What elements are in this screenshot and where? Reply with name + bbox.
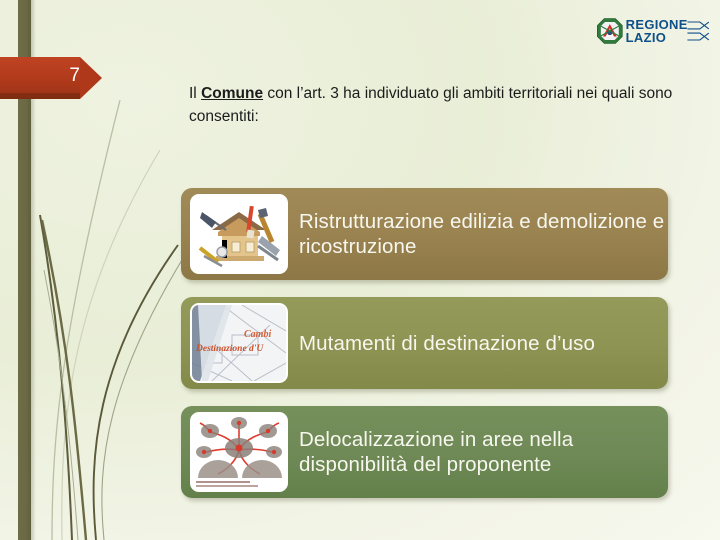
red-network-cluster-diagram-thumbnail bbox=[190, 412, 288, 492]
slide-number-badge: 7 bbox=[0, 57, 106, 99]
blueprint-change-of-use-image: Cambi Destinazione d'U bbox=[192, 305, 286, 381]
regione-lazio-emblem-icon bbox=[596, 11, 624, 51]
content-box-ristrutturazione[interactable]: Ristrutturazione edilizia e demolizione … bbox=[181, 188, 668, 280]
house-renovation-tools-image bbox=[192, 196, 286, 272]
regione-lazio-logo: REGIONE LAZIO bbox=[596, 8, 712, 54]
slide-number-badge-arrow-tip bbox=[80, 57, 102, 99]
content-box-label: Mutamenti di destinazione d’uso bbox=[299, 331, 595, 356]
thumb-caption-destinazione: Destinazione d'U bbox=[195, 344, 264, 354]
logo-line-lazio: LAZIO bbox=[626, 31, 688, 44]
red-network-cluster-image bbox=[192, 414, 286, 490]
content-box-list: Ristrutturazione edilizia e demolizione … bbox=[181, 188, 668, 515]
title-bold-comune: Comune bbox=[201, 85, 263, 102]
slide-number-text: 7 bbox=[69, 57, 80, 95]
content-box-delocalizzazione[interactable]: Delocalizzazione in aree nella disponibi… bbox=[181, 406, 668, 498]
slide: 7 REGIONE LAZIO Il Comune con l’art. 3 h… bbox=[0, 0, 720, 540]
blueprint-change-of-use-thumbnail: Cambi Destinazione d'U bbox=[190, 303, 288, 383]
logo-chevron-mark-icon bbox=[686, 14, 712, 48]
content-box-mutamenti[interactable]: Cambi Destinazione d'U Mutamenti di dest… bbox=[181, 297, 668, 389]
logo-text: REGIONE LAZIO bbox=[626, 18, 688, 45]
content-box-label: Delocalizzazione in aree nella disponibi… bbox=[299, 427, 668, 477]
content-box-label: Ristrutturazione edilizia e demolizione … bbox=[299, 209, 668, 259]
slide-number-badge-shade bbox=[0, 93, 80, 99]
house-renovation-tools-thumbnail bbox=[190, 194, 288, 274]
slide-title: Il Comune con l’art. 3 ha individuato gl… bbox=[189, 82, 689, 129]
title-prefix: Il bbox=[189, 85, 201, 102]
thumb-caption-cambio: Cambi bbox=[244, 329, 271, 340]
logo-line-regione: REGIONE bbox=[626, 18, 688, 31]
